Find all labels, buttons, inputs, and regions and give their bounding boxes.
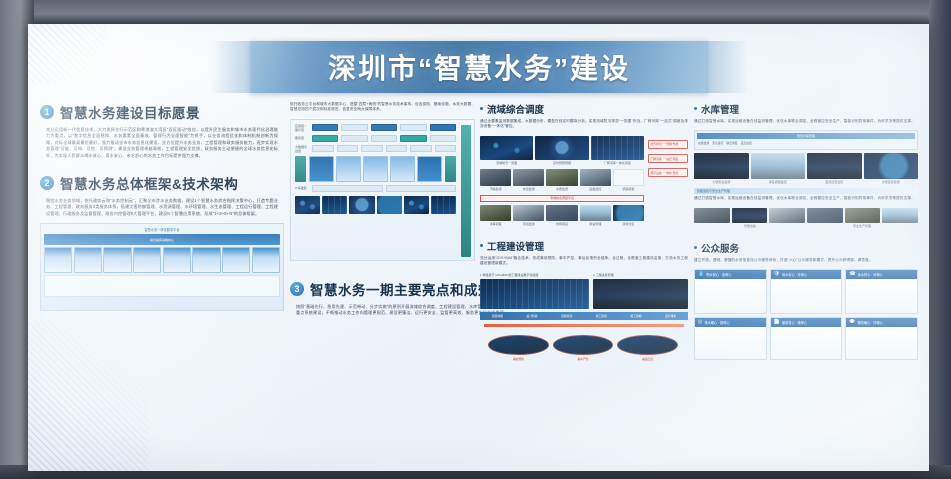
dashboard-item: 流域防汛一张图 xyxy=(480,136,533,166)
photo-thumb xyxy=(580,169,611,186)
photo-caption: 调度模型 xyxy=(613,186,644,192)
inspection-photo-item xyxy=(807,208,843,223)
framework-pill xyxy=(410,145,432,152)
inspection-photo-item xyxy=(769,208,805,223)
public-service-card[interactable]: 🛡 用水安心 · 办得心 xyxy=(770,269,843,314)
reservoir-photo-thumb xyxy=(807,153,862,179)
framework-row: 大数据平台层 xyxy=(295,145,456,153)
topic-body: 建立开放、透明、便捷的水务信息化公众服务体系，打造“六心”公众服务新模式，提升公… xyxy=(694,258,918,263)
framework-side-block xyxy=(445,156,456,182)
bottom-photo-caption: 泵站管理 xyxy=(580,221,611,227)
timeline-axis xyxy=(484,324,684,327)
reservoir-photo-item: 大坝安全监测 xyxy=(694,153,749,185)
reservoir-photo-item: 水质遥感监测 xyxy=(864,153,919,185)
framework-pill xyxy=(400,135,426,142)
framework-pill xyxy=(312,124,338,131)
card-header: 🛡 用水安心 · 办得心 xyxy=(771,270,842,279)
photo-strip: 汛情监视 水位监测 水质监测 xyxy=(480,169,644,192)
public-service-card-row-2: ◎ 排水顺心 · 报得心 📄 缴费省心 · 缴得心 xyxy=(694,317,918,360)
photo-caption: 水位监测 xyxy=(513,186,544,192)
inspection-group-caption: 智能巡检 xyxy=(694,223,806,229)
bottom-photo-caption: 管网调度 xyxy=(546,221,577,227)
tech-architecture-diagram: 智慧水务一体化服务平台 综合指挥决策中心 xyxy=(40,223,284,311)
section-1-number: 1 xyxy=(40,105,54,119)
bottom-photo-caption: 流域分区 xyxy=(613,221,644,227)
framework-pill xyxy=(312,185,383,192)
tech-card xyxy=(103,247,131,273)
framework-icon-strip xyxy=(295,196,456,214)
bottom-photo-item: 管网调度 xyxy=(546,205,577,227)
topic-engineering-construction: 工程建设管理 充分运用“GIS+BIM”融合技术，形成事前预防、事中严控、事后反… xyxy=(480,239,688,367)
topic-title: 流域综合调度 xyxy=(487,102,544,116)
topic-title: 水库管理 xyxy=(701,102,739,116)
tech-band-item: 综合指挥决策中心 xyxy=(150,238,174,242)
topic-heading: 流域综合调度 xyxy=(480,102,688,116)
photo-item: 水质监测 xyxy=(546,169,577,192)
section-1-heading: 1 智慧水务建设目标愿景 xyxy=(40,102,284,122)
dashboard-thumb xyxy=(480,136,533,160)
bottom-photo-thumb xyxy=(580,205,611,221)
framework-pill xyxy=(386,185,457,192)
inspection-photo-strip xyxy=(694,208,918,223)
section-3-number: 3 xyxy=(290,282,304,296)
tech-card xyxy=(252,247,280,273)
dashboard-strip: 流域防汛一张图 实时预警预报 厂网河库一体化调度 xyxy=(480,136,644,166)
framework-pill xyxy=(312,135,338,142)
framework-blocks-row xyxy=(295,156,456,182)
topic-heading: 水库管理 xyxy=(694,102,918,116)
column-middle: 依托政务云平台和城市大数据中心，搭建“四层+两侧”的智慧水务技术架构，包含感知、… xyxy=(290,102,475,323)
callout-box: 厂网河库 “一站式”调度 xyxy=(648,154,688,163)
shield-icon: 🛡 xyxy=(774,272,780,277)
panel-item: 在线监测 xyxy=(698,141,709,145)
photo-thumb xyxy=(613,169,644,186)
bottom-photo-thumb xyxy=(480,205,511,221)
timeline-node xyxy=(617,335,677,355)
card-header: 💬 服务暖心 · 评得心 xyxy=(846,318,917,327)
dashboard-item: 实时预警预报 xyxy=(535,136,588,166)
bottom-photo-strip: 水库调度 河道监测 管网调度 xyxy=(480,205,644,227)
timeline-stage: 运行维护 xyxy=(653,312,688,320)
framework-row-label: 应用层 / 展示层 xyxy=(295,124,309,132)
tech-command-center-band: 综合指挥决策中心 xyxy=(44,234,280,245)
framework-pill xyxy=(386,145,408,152)
section-2-heading: 2 智慧水务总体框架&技术架构 xyxy=(40,173,284,193)
bullet-icon xyxy=(694,246,697,249)
framework-pill xyxy=(430,124,456,131)
bullet-icon xyxy=(480,244,483,247)
card-body xyxy=(846,327,917,359)
inspection-thumb xyxy=(845,208,881,223)
bottom-photo-thumb xyxy=(513,205,544,221)
framework-block xyxy=(417,156,442,182)
framework-side-block xyxy=(295,156,306,182)
topic-watershed-dispatch: 流域综合调度 通过全要素监测数据集成、大数据分析、模型在线实时模拟分析，实现流域… xyxy=(480,102,688,227)
inspection-photo-item xyxy=(882,208,918,223)
framework-thumb xyxy=(377,196,402,214)
panel-item: 联合调度 xyxy=(726,141,737,145)
topic-public-service: 公众服务 建立开放、透明、便捷的水务信息化公众服务体系，打造“六心”公众服务新模… xyxy=(694,241,918,360)
doc-icon: 📄 xyxy=(774,320,780,325)
inspection-group-caption: 安全生产管理 xyxy=(806,223,918,229)
panel-item: 安全运行 xyxy=(712,141,723,145)
tech-card xyxy=(192,247,220,273)
section-2-title: 智慧水务总体框架&技术架构 xyxy=(60,173,238,193)
timeline-stage: 项目前期 xyxy=(480,312,515,320)
reservoir-photo-caption: 水质遥感监测 xyxy=(864,179,919,185)
timeline-node xyxy=(553,335,613,355)
wall-surface-right xyxy=(929,0,951,479)
card-label: 用水安心 · 办得心 xyxy=(782,272,807,277)
chat-icon: 💬 xyxy=(849,320,855,325)
framework-pill xyxy=(430,135,456,142)
framework-thumb xyxy=(295,196,320,214)
section-2: 2 智慧水务总体框架&技术架构 围绕水务业务领域，依托政务云和“水务控制云”，汇… xyxy=(40,173,284,311)
tech-infrastructure-row xyxy=(44,275,280,297)
timeline-node xyxy=(488,335,548,355)
wall-surface-top xyxy=(0,0,951,26)
callout-column: 防汛排涝 “一张图”作战 厂网河库 “一站式”调度 排涝设备 “一体化”管控 xyxy=(648,136,688,227)
card-label: 亲水舒心 · 问得心 xyxy=(858,272,883,277)
framework-block xyxy=(390,156,415,182)
framework-thumb xyxy=(404,196,429,214)
inspection-thumb xyxy=(807,208,843,223)
dashboard-caption: 流域防汛一张图 xyxy=(480,160,533,166)
section-1-body: 充分运用新一代信息技术，大力发挥先行示范区和粤港澳大湾区“双区驱动”效应，以提升… xyxy=(40,127,284,159)
framework-pill xyxy=(400,124,426,131)
framework-row-label: IT基础层 xyxy=(295,186,309,190)
section-2-number: 2 xyxy=(40,176,54,190)
photo-caption: 汛情监视 xyxy=(480,186,511,192)
dashboard-item: 厂网河库一体化调度 xyxy=(591,136,644,166)
card-label: 排水顺心 · 报得心 xyxy=(704,320,729,325)
dashboard-caption: 厂网河库一体化调度 xyxy=(591,160,644,166)
framework-note: 依托政务云平台和城市大数据中心，搭建“四层+两侧”的智慧水务技术架构，包含感知、… xyxy=(290,102,475,113)
progress-dashboard-figure xyxy=(593,279,688,309)
inspection-photo-item xyxy=(845,208,881,223)
reservoir-photo-thumb xyxy=(694,153,749,179)
photo-item: 汛情监视 xyxy=(480,169,511,192)
card-header: 💧 喝水放心 · 查得心 xyxy=(695,270,766,279)
screenshot-root: 深圳市“智慧水务”建设 1 智慧水务建设目标愿景 充分运用新一代信息技术，大力发… xyxy=(0,0,951,479)
card-body xyxy=(771,279,842,313)
framework-block xyxy=(336,156,361,182)
photo-thumb xyxy=(513,169,544,186)
panel-items: 在线监测 安全运行 联合调度 应急处置 xyxy=(697,139,915,147)
reservoir-photo-thumb xyxy=(864,153,919,179)
framework-diagram: 应用层 / 展示层 服务层 xyxy=(290,119,475,261)
photo-item: 设备监控 xyxy=(580,169,611,192)
topic-title: 工程建设管理 xyxy=(487,239,544,253)
decorative-hatch-top-left xyxy=(28,24,106,84)
topic-heading: 公众服务 xyxy=(694,241,918,255)
phone-icon: ☎ xyxy=(849,272,855,277)
framework-thumb xyxy=(431,196,456,214)
card-body xyxy=(846,279,917,313)
timeline-stage: 设计阶段 xyxy=(515,312,550,320)
card-header: 📄 缴费省心 · 缴得心 xyxy=(771,318,842,327)
framework-row-label: 服务层 xyxy=(295,136,309,140)
public-service-card-row-1: 💧 喝水放心 · 查得心 🛡 用水安心 · 办得心 xyxy=(694,269,918,314)
framework-row-label: 大数据平台层 xyxy=(295,145,309,153)
construction-timeline: 项目前期 设计阶段 招标阶段 施工阶段 竣工验收 运行维护 事前预防 事中严控 xyxy=(480,309,688,367)
tech-card xyxy=(222,247,250,273)
topic-reservoir-management: 水库管理 通过打造智慧水库，实现运维设备在线监测管理，优化水库联合调控，全程管控… xyxy=(694,102,918,229)
card-label: 喝水放心 · 查得心 xyxy=(706,272,731,277)
tech-card xyxy=(163,247,191,273)
photo-thumb xyxy=(546,169,577,186)
reservoir-photo-caption: 库区视频监控 xyxy=(751,179,806,185)
framework-pill xyxy=(371,124,397,131)
exhibition-poster-board: 深圳市“智慧水务”建设 1 智慧水务建设目标愿景 充分运用新一代信息技术，大力发… xyxy=(28,24,929,471)
framework-pill xyxy=(361,145,383,152)
framework-row: IT基础层 xyxy=(295,185,456,192)
card-header: ◎ 排水顺心 · 报得心 xyxy=(695,318,766,327)
reservoir-photo-item: 库区视频监控 xyxy=(751,153,806,185)
topic-title: 公众服务 xyxy=(701,241,739,255)
column-topic-right: 水库管理 通过打造智慧水库，实现运维设备在线监测管理，优化水库联合调控，全程管控… xyxy=(694,102,918,360)
framework-block xyxy=(309,156,334,182)
dashboard-caption: 实时预警预报 xyxy=(535,160,588,166)
subitem-label: 2 工程进度管理 xyxy=(593,273,688,277)
photo-thumb xyxy=(480,169,511,186)
reservoir-subtitle-bar: 智能巡检与安全生产管理 xyxy=(694,188,918,194)
photo-item: 调度模型 xyxy=(613,169,644,192)
photo-caption: 设备监控 xyxy=(580,186,611,192)
tech-card xyxy=(44,247,72,273)
framework-pill xyxy=(435,145,457,152)
reservoir-info-panel: 智慧水库管理 在线监测 安全运行 联合调度 应急处置 xyxy=(694,130,918,150)
column-left: 1 智慧水务建设目标愿景 充分运用新一代信息技术，大力发挥先行示范区和粤港澳大湾… xyxy=(40,102,284,311)
framework-thumb xyxy=(322,196,347,214)
tech-card xyxy=(133,247,161,273)
topic-body: 通过打造智慧水库，实现运维设备在线监测管理，优化水库联合调控，全程管控安全生产，… xyxy=(694,119,918,124)
bullet-icon xyxy=(480,107,483,110)
dashboard-thumb xyxy=(535,136,588,160)
bullet-icon xyxy=(694,107,697,110)
framework-block-group xyxy=(309,156,442,182)
card-body xyxy=(771,327,842,359)
framework-row: 服务层 xyxy=(295,135,456,142)
water-drop-icon: 💧 xyxy=(698,272,704,277)
timeline-stage: 招标阶段 xyxy=(549,312,584,320)
inspection-thumb xyxy=(882,208,918,223)
poster-content: 1 智慧水务建设目标愿景 充分运用新一代信息技术，大力发挥先行示范区和粤港澳大湾… xyxy=(28,102,929,471)
bottom-photo-caption: 河道监测 xyxy=(513,221,544,227)
inspection-thumb xyxy=(769,208,805,223)
framework-thumb xyxy=(349,196,374,214)
topic-body: 充分运用“GIS+BIM”融合技术，形成事前预防、事中严控、事后反馈的全链条、全… xyxy=(480,256,688,267)
bottom-photo-item: 泵站管理 xyxy=(580,205,611,227)
framework-block xyxy=(363,156,388,182)
framework-pill xyxy=(341,124,367,131)
panel-item: 应急处置 xyxy=(741,141,752,145)
timeline-stage-header: 项目前期 设计阶段 招标阶段 施工阶段 竣工验收 运行维护 xyxy=(480,312,688,320)
panel-title: 智慧水库管理 xyxy=(797,134,815,138)
public-service-card[interactable]: ☎ 亲水舒心 · 问得心 xyxy=(845,269,918,314)
photo-caption: 水质监测 xyxy=(546,186,577,192)
bottom-photo-item: 流域分区 xyxy=(613,205,644,227)
timeline-node-label: 事中严控 xyxy=(553,357,613,361)
inspection-thumb xyxy=(732,208,768,223)
tech-card xyxy=(74,247,102,273)
card-header: ☎ 亲水舒心 · 问得心 xyxy=(846,270,917,279)
tech-diagram-title: 智慧水务一体化服务平台 xyxy=(44,227,280,232)
topic-heading: 工程建设管理 xyxy=(480,239,688,253)
framework-pill xyxy=(371,135,397,142)
inspection-photo-item xyxy=(694,208,730,223)
inspection-thumb xyxy=(694,208,730,223)
public-service-card[interactable]: 📄 缴费省心 · 缴得心 xyxy=(770,317,843,360)
card-body xyxy=(695,279,766,313)
timeline-stage: 施工阶段 xyxy=(584,312,619,320)
inspection-photo-item xyxy=(732,208,768,223)
framework-pill xyxy=(341,135,367,142)
public-service-card[interactable]: 💬 服务暖心 · 评得心 xyxy=(845,317,918,360)
section-1-title: 智慧水务建设目标愿景 xyxy=(60,102,200,122)
reservoir-photo-caption: 夜间巡查监控 xyxy=(807,179,862,185)
callout-box: 防汛排涝 “一张图”作战 xyxy=(648,140,688,149)
framework-row: 应用层 / 展示层 xyxy=(295,124,456,132)
bim-model-figure xyxy=(480,279,589,309)
callout-box: 排涝设备 “一体化”管控 xyxy=(648,168,688,177)
bottom-photo-thumb xyxy=(613,205,644,221)
flow-label: 流域综合调度平台 xyxy=(550,196,574,200)
flow-label-box: 流域综合调度平台 xyxy=(480,195,644,202)
timeline-node-label: 事后反馈 xyxy=(617,357,677,361)
reservoir-subtitle: 智能巡检与安全生产管理 xyxy=(697,189,730,193)
public-service-card[interactable]: ◎ 排水顺心 · 报得心 xyxy=(694,317,767,360)
reservoir-photo-thumb xyxy=(751,153,806,179)
card-body xyxy=(695,327,766,359)
poster-title: 深圳市“智慧水务”建设 xyxy=(328,47,630,87)
bottom-photo-item: 水库调度 xyxy=(480,205,511,227)
section-3-title: 智慧水务一期主要亮点和成效 xyxy=(310,279,492,299)
bottom-photo-thumb xyxy=(546,205,577,221)
reservoir-photo-caption: 大坝安全监测 xyxy=(694,179,749,185)
bottom-photo-caption: 水库调度 xyxy=(480,221,511,227)
dashboard-thumb xyxy=(591,136,644,160)
tech-platform-cards xyxy=(44,247,280,273)
topic-body: 通过全要素监测数据集成、大数据分析、模型在线实时模拟分析，实现流域防汛排涝“一张… xyxy=(480,119,688,130)
poster-title-banner: 深圳市“智慧水务”建设 xyxy=(250,41,708,93)
timeline-stage: 竣工验收 xyxy=(619,312,654,320)
card-label: 服务暖心 · 评得心 xyxy=(858,320,883,325)
framework-side-rail xyxy=(461,125,471,257)
bottom-photo-item: 河道监测 xyxy=(513,205,544,227)
section-2-body: 围绕水务业务领域，依托政务云和“水务控制云”，汇聚全市涉水业务数据，建设1个智慧… xyxy=(40,198,284,217)
photo-item: 水位监测 xyxy=(513,169,544,192)
reservoir-photo-item: 夜间巡查监控 xyxy=(807,153,862,185)
timeline-node-label: 事前预防 xyxy=(488,357,548,361)
framework-pill xyxy=(312,145,334,152)
section-1: 1 智慧水务建设目标愿景 充分运用新一代信息技术，大力发挥先行示范区和粤港澳大湾… xyxy=(40,102,284,159)
subitem-label: 1 构建基于 GIS+BIM 的工程建设数字化底座 xyxy=(480,273,589,277)
reservoir-photo-strip: 大坝安全监测 库区视频监控 夜间巡查监控 水质遥感监测 xyxy=(694,153,918,185)
reservoir-sub-body: 通过打造智慧水库，实现运维设备在线监测管理，优化水库联合调控，全程管控安全生产，… xyxy=(694,196,918,201)
card-label: 缴费省心 · 缴得心 xyxy=(782,320,807,325)
framework-pill xyxy=(337,145,359,152)
map-pin-icon: ◎ xyxy=(698,320,702,325)
public-service-card[interactable]: 💧 喝水放心 · 查得心 xyxy=(694,269,767,314)
column-topic-left: 流域综合调度 通过全要素监测数据集成、大数据分析、模型在线实时模拟分析，实现流域… xyxy=(480,102,688,367)
